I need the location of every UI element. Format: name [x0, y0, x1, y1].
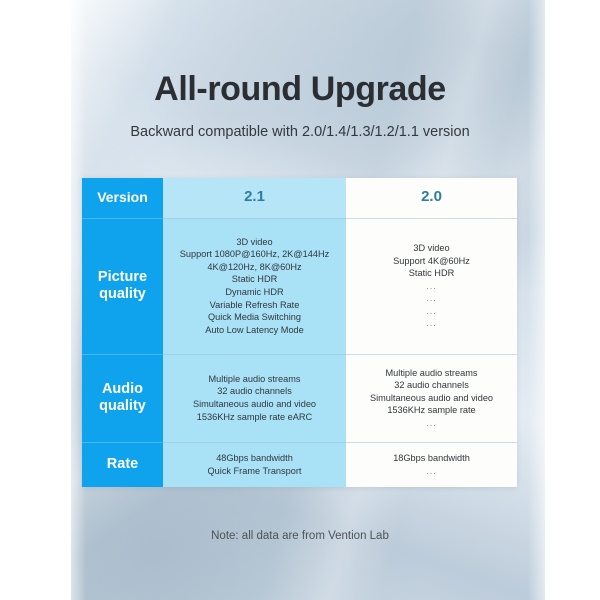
- row-label-audio-quality: Audio quality: [82, 354, 163, 442]
- feature-list-2-0: 3D video Support 4K@60Hz Static HDR ... …: [350, 242, 513, 330]
- cell-picture-quality-2-1: 3D video Support 1080P@160Hz, 2K@144Hz 4…: [163, 218, 346, 354]
- table-header-row: Version 2.1 2.0: [82, 178, 517, 218]
- feature-item: 4K@120Hz, 8K@60Hz: [167, 261, 342, 274]
- feature-item: 18Gbps bandwidth: [350, 452, 513, 465]
- feature-item-placeholder: ...: [350, 317, 513, 330]
- row-label-line-1: Picture: [98, 269, 147, 285]
- feature-item-placeholder: ...: [350, 305, 513, 318]
- page-subtitle: Backward compatible with 2.0/1.4/1.3/1.2…: [130, 122, 470, 142]
- feature-item-placeholder: ...: [350, 465, 513, 478]
- feature-item: Dynamic HDR: [167, 286, 342, 299]
- feature-list-2-1: 3D video Support 1080P@160Hz, 2K@144Hz 4…: [167, 236, 342, 337]
- row-label-line-2: quality: [99, 286, 146, 302]
- feature-list-2-0: Multiple audio streams 32 audio channels…: [350, 367, 513, 430]
- header-cell-2-0: 2.0: [346, 178, 517, 218]
- page-title: All-round Upgrade: [0, 70, 600, 109]
- version-comparison-table: Version 2.1 2.0 Picture quality 3D video…: [82, 178, 517, 487]
- header-cell-2-1: 2.1: [163, 178, 346, 218]
- feature-item: Multiple audio streams: [350, 367, 513, 380]
- feature-item: Variable Refresh Rate: [167, 299, 342, 312]
- promo-graphic: All-round Upgrade Backward compatible wi…: [0, 0, 600, 600]
- feature-item: Simultaneous audio and video: [167, 398, 342, 411]
- feature-item: 48Gbps bandwidth: [167, 452, 342, 465]
- feature-item: 32 audio channels: [350, 379, 513, 392]
- feature-item: Multiple audio streams: [167, 373, 342, 386]
- feature-item: 1536KHz sample rate eARC: [167, 411, 342, 424]
- feature-item: Auto Low Latency Mode: [167, 324, 342, 337]
- cell-audio-quality-2-0: Multiple audio streams 32 audio channels…: [346, 354, 517, 442]
- footnote: Note: all data are from Vention Lab: [0, 530, 600, 542]
- feature-item: Support 4K@60Hz: [350, 255, 513, 268]
- table-row-audio-quality: Audio quality Multiple audio streams 32 …: [82, 354, 517, 442]
- feature-item: Quick Frame Transport: [167, 465, 342, 478]
- feature-list-2-0: 18Gbps bandwidth ...: [350, 452, 513, 477]
- row-label-line-1: Rate: [107, 456, 138, 472]
- feature-item: Support 1080P@160Hz, 2K@144Hz: [167, 248, 342, 261]
- row-label-line-1: Audio: [102, 381, 143, 397]
- feature-item-placeholder: ...: [350, 417, 513, 430]
- feature-item: 3D video: [350, 242, 513, 255]
- feature-list-2-1: Multiple audio streams 32 audio channels…: [167, 373, 342, 423]
- header-cell-version: Version: [82, 178, 163, 218]
- feature-item-placeholder: ...: [350, 292, 513, 305]
- feature-item-placeholder: ...: [350, 280, 513, 293]
- row-label-picture-quality: Picture quality: [82, 218, 163, 354]
- row-label-rate: Rate: [82, 442, 163, 487]
- feature-item: Quick Media Switching: [167, 311, 342, 324]
- feature-item: 1536KHz sample rate: [350, 404, 513, 417]
- cell-rate-2-1: 48Gbps bandwidth Quick Frame Transport: [163, 442, 346, 487]
- cell-audio-quality-2-1: Multiple audio streams 32 audio channels…: [163, 354, 346, 442]
- feature-item: 3D video: [167, 236, 342, 249]
- feature-item: 32 audio channels: [167, 385, 342, 398]
- feature-list-2-1: 48Gbps bandwidth Quick Frame Transport: [167, 452, 342, 477]
- feature-item: Static HDR: [350, 267, 513, 280]
- table-row-picture-quality: Picture quality 3D video Support 1080P@1…: [82, 218, 517, 354]
- cell-picture-quality-2-0: 3D video Support 4K@60Hz Static HDR ... …: [346, 218, 517, 354]
- table-row-rate: Rate 48Gbps bandwidth Quick Frame Transp…: [82, 442, 517, 487]
- feature-item: Simultaneous audio and video: [350, 392, 513, 405]
- row-label-line-2: quality: [99, 398, 146, 414]
- feature-item: Static HDR: [167, 273, 342, 286]
- cell-rate-2-0: 18Gbps bandwidth ...: [346, 442, 517, 487]
